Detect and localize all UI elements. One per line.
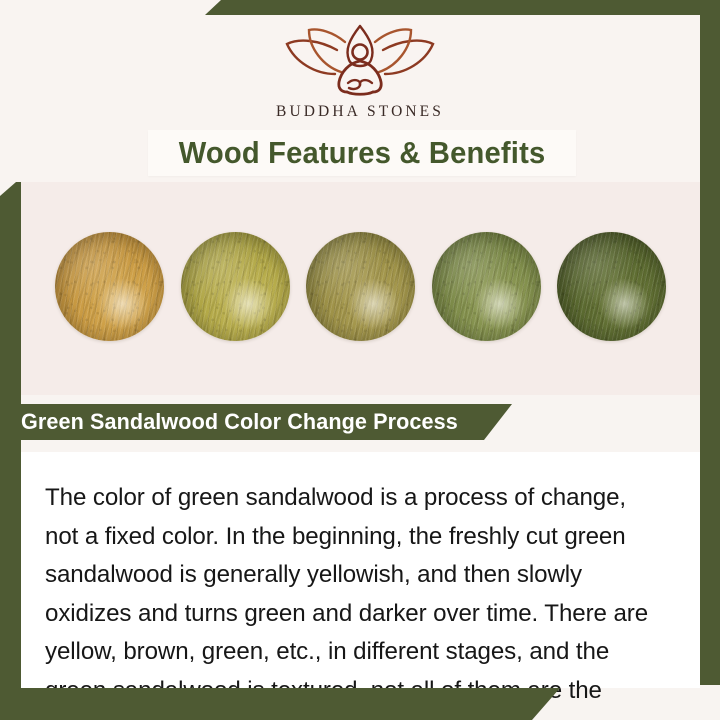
bead-shading-overlay [306,232,415,341]
poster-root: BUDDHA STONES Wood Features & Benefits [0,0,720,720]
title-banner: Wood Features & Benefits [148,130,576,176]
bead-gallery [21,182,700,395]
frame-accent-top [205,0,720,15]
brand-name: BUDDHA STONES [276,103,444,121]
lotus-meditation-icon [275,22,445,98]
page-title: Wood Features & Benefits [179,135,546,171]
frame-accent-bottom [0,688,560,720]
brand-logo-block: BUDDHA STONES [0,22,720,121]
bead-shading-overlay [432,232,541,341]
bead-shading-overlay [55,232,164,341]
bead-shading-overlay [557,232,666,341]
bead-stage-5-dark-green [557,232,666,341]
bead-stage-4-green [432,232,541,341]
section-header-label: Green Sandalwood Color Change Process [21,409,458,435]
bead-stage-2-yellow-green [181,232,290,341]
frame-accent-right [700,15,720,685]
section-header-ribbon: Green Sandalwood Color Change Process [0,404,512,440]
bead-row [21,232,700,341]
description-text: The color of green sandalwood is a proce… [45,479,651,720]
bead-stage-1-golden-yellow [55,232,164,341]
frame-accent-left [0,182,21,702]
description-panel: The color of green sandalwood is a proce… [21,452,700,688]
bead-shading-overlay [181,232,290,341]
bead-stage-3-olive-brown [306,232,415,341]
